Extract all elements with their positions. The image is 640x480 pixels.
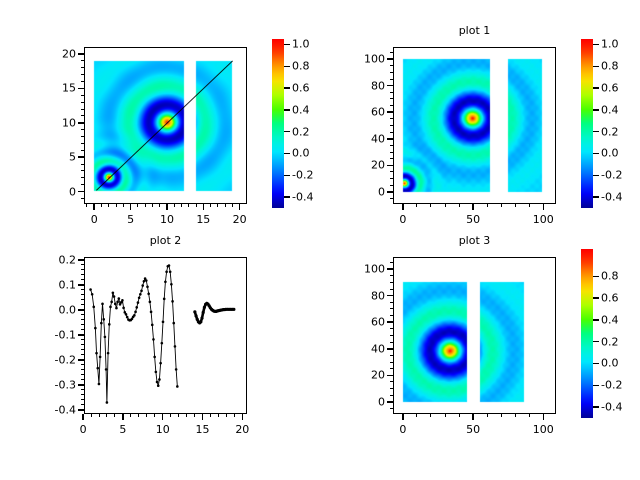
colorbar-tick-plot3	[593, 385, 599, 387]
colorbar-tick-plot3	[593, 363, 599, 365]
xtick-minor-plot3	[501, 414, 502, 417]
ytick-minor-plot3	[390, 289, 393, 290]
colorbar-tick-label-plot3: 0.8	[601, 270, 619, 283]
ytick-minor-plot3	[390, 302, 393, 303]
ytick-label-plot3: 80	[349, 289, 385, 302]
colorbar-tick-label-plot3: 0.4	[601, 313, 619, 326]
xtick-label-plot3: 100	[533, 423, 554, 436]
plot-title-plot3: plot 3	[393, 234, 556, 247]
colorbar-tick-label-plot3: 0.0	[601, 357, 619, 370]
ytick-minor-plot3	[390, 335, 393, 336]
ytick-label-plot3: 100	[349, 263, 385, 276]
colorbar-gradient-plot3	[581, 249, 593, 418]
colorbar-tick-label-plot3: 0.6	[601, 292, 619, 305]
xtick-minor-plot3	[487, 414, 488, 417]
ytick-major-plot3	[387, 401, 393, 403]
ytick-label-plot3: 40	[349, 342, 385, 355]
ytick-minor-plot3	[390, 315, 393, 316]
xtick-minor-plot3	[416, 414, 417, 417]
xtick-label-plot3: 50	[466, 423, 480, 436]
ytick-minor-plot3	[390, 342, 393, 343]
colorbar-tick-label-plot3: -0.2	[601, 379, 622, 392]
xtick-minor-plot3	[515, 414, 516, 417]
xtick-minor-plot3	[430, 414, 431, 417]
colorbar-tick-label-plot3: 0.2	[601, 335, 619, 348]
ytick-label-plot3: 0	[349, 395, 385, 408]
ytick-minor-plot3	[390, 408, 393, 409]
ytick-minor-plot3	[390, 368, 393, 369]
colorbar-plot3	[581, 249, 593, 418]
xtick-minor-plot3	[459, 414, 460, 417]
colorbar-tick-plot3	[593, 297, 599, 299]
ytick-major-plot3	[387, 375, 393, 377]
ytick-minor-plot3	[390, 282, 393, 283]
ytick-minor-plot3	[390, 395, 393, 396]
ytick-minor-plot3	[390, 381, 393, 382]
ytick-major-plot3	[387, 348, 393, 350]
ytick-major-plot3	[387, 295, 393, 297]
colorbar-tick-plot3	[593, 319, 599, 321]
ytick-minor-plot3	[390, 275, 393, 276]
figure-canvas: 05101520051015201.00.80.60.40.20.0-0.2-0…	[0, 0, 640, 480]
ytick-major-plot3	[387, 321, 393, 323]
xtick-minor-plot3	[445, 414, 446, 417]
axes-plot3	[393, 257, 556, 414]
xtick-major-plot3	[543, 414, 545, 420]
ytick-minor-plot3	[390, 362, 393, 363]
ytick-minor-plot3	[390, 355, 393, 356]
xtick-minor-plot3	[529, 414, 530, 417]
colorbar-tick-plot3	[593, 276, 599, 278]
colorbar-tick-plot3	[593, 341, 599, 343]
panel-plot3: plot 30204060801000501000.80.60.40.20.0-…	[0, 0, 640, 480]
ytick-minor-plot3	[390, 388, 393, 389]
ytick-minor-plot3	[390, 328, 393, 329]
colorbar-tick-label-plot3: -0.4	[601, 401, 622, 414]
xtick-major-plot3	[472, 414, 474, 420]
ytick-minor-plot3	[390, 308, 393, 309]
ytick-major-plot3	[387, 268, 393, 270]
colorbar-tick-plot3	[593, 406, 599, 408]
ytick-minor-plot3	[390, 262, 393, 263]
ytick-label-plot3: 60	[349, 316, 385, 329]
xtick-label-plot3: 0	[399, 423, 406, 436]
xtick-major-plot3	[402, 414, 404, 420]
heatmap-image-plot3	[394, 258, 554, 412]
ytick-label-plot3: 20	[349, 369, 385, 382]
